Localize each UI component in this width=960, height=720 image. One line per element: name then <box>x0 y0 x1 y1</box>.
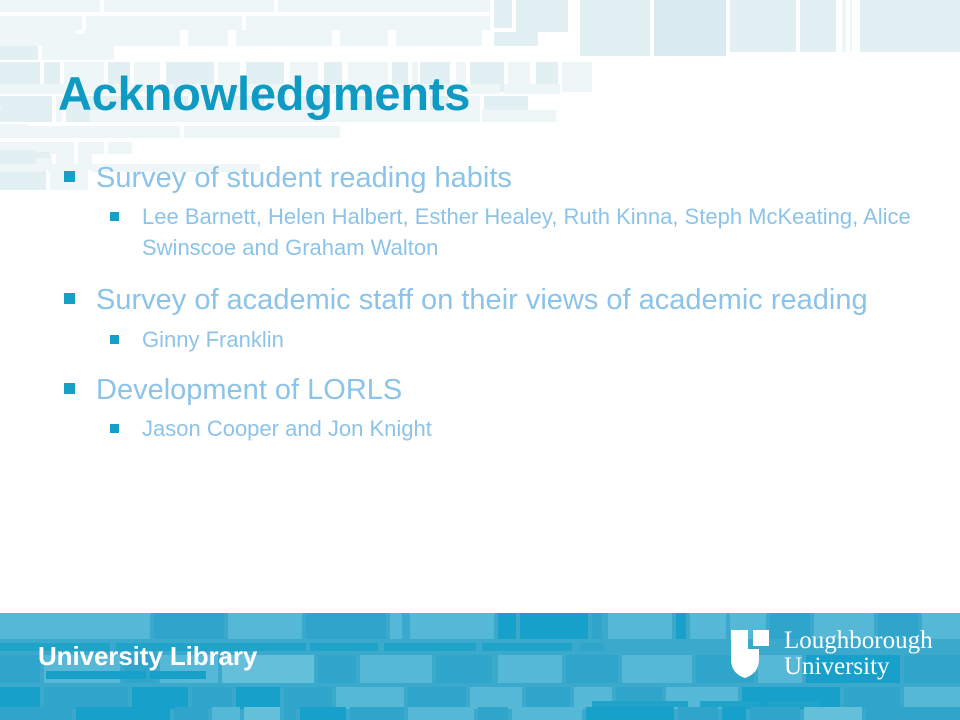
bullet-level1-label: Survey of student reading habits <box>96 162 512 194</box>
loughborough-university-logo: Loughborough University <box>729 626 933 682</box>
bullet-square-icon <box>110 212 119 221</box>
bullet-level1: Development of LORLS <box>58 370 938 410</box>
logo-line-1: Loughborough <box>784 628 933 654</box>
bullet-level1-label: Development of LORLS <box>96 374 402 406</box>
bullet-square-icon <box>110 424 119 433</box>
bullet-level2-label: Lee Barnett, Helen Halbert, Esther Heale… <box>142 201 938 263</box>
bullet-square-icon <box>64 171 75 182</box>
spacer <box>58 266 938 280</box>
bullet-level2: Lee Barnett, Helen Halbert, Esther Heale… <box>58 201 938 263</box>
bullet-level1-label: Survey of academic staff on their views … <box>96 284 868 316</box>
bullet-level2-label: Jason Cooper and Jon Knight <box>142 413 938 444</box>
bullet-level2: Jason Cooper and Jon Knight <box>58 413 938 444</box>
bullet-square-icon <box>64 293 75 304</box>
bullet-list: Survey of student reading habits Lee Bar… <box>58 158 938 447</box>
bullet-level1: Survey of student reading habits <box>58 158 938 198</box>
logo-wordmark: Loughborough University <box>784 628 933 680</box>
bullet-level2-label: Ginny Franklin <box>142 324 938 355</box>
logo-line-2: University <box>784 654 933 680</box>
bullet-level2: Ginny Franklin <box>58 324 938 355</box>
bullet-square-icon <box>110 335 119 344</box>
shield-icon <box>729 628 775 680</box>
bullet-square-icon <box>64 383 75 394</box>
page-title: Acknowledgments <box>58 68 470 120</box>
slide: Acknowledgments Survey of student readin… <box>0 0 960 720</box>
bullet-level1: Survey of academic staff on their views … <box>58 280 938 320</box>
footer-department-title: University Library <box>38 641 257 672</box>
spacer <box>58 358 938 370</box>
